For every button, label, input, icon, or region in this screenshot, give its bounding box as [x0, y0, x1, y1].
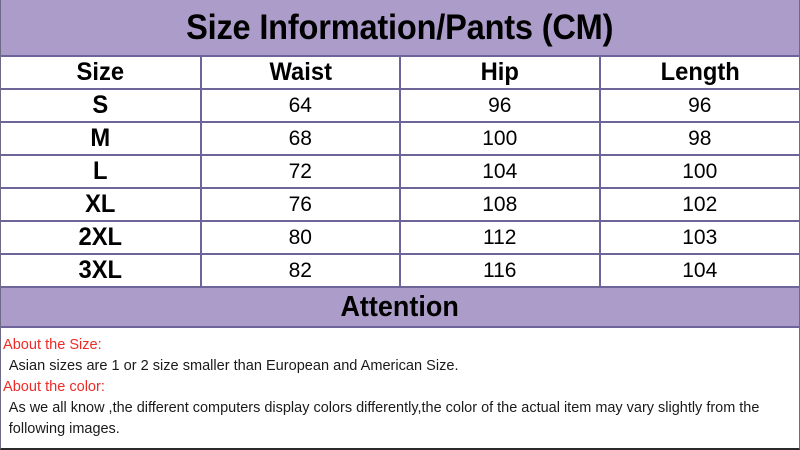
- page-title: Size Information/Pants (CM): [186, 8, 613, 48]
- about-color-body: As we all know ,the different computers …: [3, 397, 798, 439]
- cell-waist: 72: [201, 155, 401, 188]
- cell-length: 103: [600, 221, 800, 254]
- cell-size: L: [6, 155, 196, 188]
- cell-size: 3XL: [6, 254, 196, 287]
- cell-length: 100: [600, 155, 800, 188]
- size-chart: Size Information/Pants (CM) Size Waist H…: [0, 0, 800, 450]
- cell-waist: 80: [201, 221, 401, 254]
- about-color-heading: About the color:: [3, 376, 773, 397]
- table-row: 3XL 82 116 104: [1, 254, 799, 287]
- about-size-heading: About the Size:: [3, 334, 773, 355]
- notes-section: About the Size: Asian sizes are 1 or 2 s…: [1, 328, 799, 448]
- cell-hip: 96: [400, 89, 600, 122]
- attention-title: Attention: [341, 291, 459, 324]
- cell-length: 96: [600, 89, 800, 122]
- column-header-waist: Waist: [205, 57, 395, 89]
- table-row: M 68 100 98: [1, 122, 799, 155]
- cell-length: 104: [600, 254, 800, 287]
- cell-hip: 108: [400, 188, 600, 221]
- about-size-body: Asian sizes are 1 or 2 size smaller than…: [3, 355, 773, 376]
- attention-banner: Attention: [1, 288, 799, 328]
- cell-length: 98: [600, 122, 800, 155]
- cell-waist: 68: [201, 122, 401, 155]
- table-row: 2XL 80 112 103: [1, 221, 799, 254]
- table-row: XL 76 108 102: [1, 188, 799, 221]
- column-header-hip: Hip: [405, 57, 595, 89]
- title-banner: Size Information/Pants (CM): [1, 0, 799, 57]
- cell-size: XL: [6, 188, 196, 221]
- cell-length: 102: [600, 188, 800, 221]
- table-row: S 64 96 96: [1, 89, 799, 122]
- cell-waist: 64: [201, 89, 401, 122]
- column-header-size: Size: [6, 57, 196, 89]
- cell-hip: 116: [400, 254, 600, 287]
- table-row: L 72 104 100: [1, 155, 799, 188]
- cell-hip: 112: [400, 221, 600, 254]
- table-header-row: Size Waist Hip Length: [1, 57, 799, 89]
- cell-size: S: [6, 89, 196, 122]
- cell-hip: 100: [400, 122, 600, 155]
- cell-waist: 76: [201, 188, 401, 221]
- cell-hip: 104: [400, 155, 600, 188]
- cell-size: 2XL: [6, 221, 196, 254]
- size-information-table: Size Waist Hip Length S 64 96 96 M 68 10…: [1, 57, 799, 288]
- cell-waist: 82: [201, 254, 401, 287]
- column-header-length: Length: [604, 57, 794, 89]
- cell-size: M: [6, 122, 196, 155]
